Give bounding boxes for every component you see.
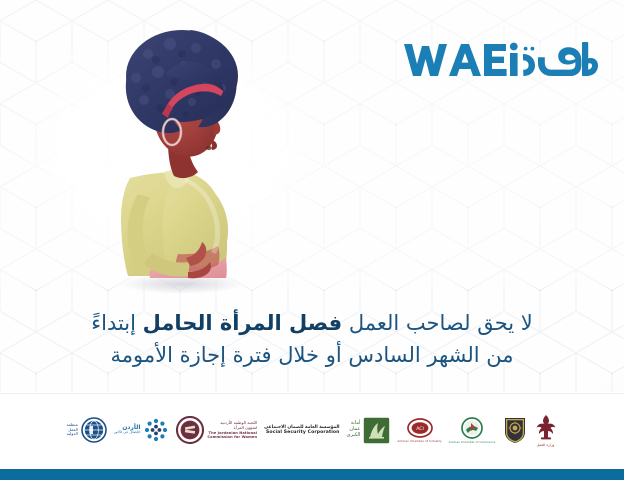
footer: منظمة العمل الدولية	[0, 393, 624, 480]
message-line-1: لا يحق لصاحب العمل فصل المرأة الحامل إبت…	[91, 308, 533, 338]
ministry-of-labour-logo: وزارة العمل	[534, 414, 558, 447]
pregnant-woman-illustration	[86, 26, 286, 294]
poster-root: لا يحق لصاحب العمل فصل المرأة الحامل إبت…	[0, 0, 624, 480]
jordan-emblem-logo	[503, 416, 527, 444]
gam-label-3: الكبرى	[347, 433, 361, 439]
message-line1-after: إبتداءً	[91, 311, 142, 335]
social-security-corporation-logo: المؤسسة العامة للضمان الاجتماعي Social S…	[264, 425, 339, 435]
acc-label-en: Amman Chamber of Commerce	[449, 440, 496, 444]
svg-text:ACI: ACI	[416, 426, 424, 432]
gam-emblem-icon	[363, 417, 390, 444]
message-band: لا يحق لصاحب العمل فصل المرأة الحامل إبت…	[0, 286, 624, 392]
message-line-2: من الشهر السادس أو خلال فترة إجازة الأمو…	[110, 340, 513, 370]
ilo-emblem-icon	[81, 417, 107, 443]
greater-amman-municipality-logo: أمانة عمان الكبرى	[347, 417, 391, 444]
ssc-label-en: Social Security Corporation	[266, 430, 340, 435]
jncw-emblem-icon	[176, 416, 204, 444]
jordan-shield-icon	[503, 416, 527, 444]
mol-label-ar: وزارة العمل	[537, 443, 555, 447]
ministry-crown-icon	[534, 414, 558, 442]
ilo-label-3: الدولية	[67, 432, 78, 437]
fairpay-dots-icon	[143, 417, 169, 443]
jordan-fair-pay-logo: الأردن الإنصاف في الأجور	[114, 417, 170, 443]
message-line1-bold: فصل المرأة الحامل	[143, 311, 342, 335]
footer-accent-bar	[0, 469, 624, 480]
amman-chamber-of-commerce-logo: Amman Chamber of Commerce	[449, 417, 496, 444]
aci-emblem-icon: ACI	[407, 418, 433, 438]
jordanian-national-commission-for-women-logo: اللجنة الوطنية الأردنية لشؤون المرأة The…	[176, 416, 257, 444]
waei-logo	[402, 36, 598, 82]
message-line1-before: لا يحق لصاحب العمل	[342, 311, 533, 335]
acc-emblem-icon	[460, 417, 484, 439]
aci-label-en: Amman Chamber of Industry	[397, 439, 441, 443]
jncw-label-en-2: Commission for Women	[207, 435, 257, 439]
fairpay-label-sub: الإنصاف في الأجور	[114, 431, 141, 435]
amman-chamber-of-industry-logo: ACI Amman Chamber of Industry	[397, 418, 441, 443]
footer-logo-strip: منظمة العمل الدولية	[0, 394, 624, 466]
ilo-logo: منظمة العمل الدولية	[67, 417, 107, 443]
